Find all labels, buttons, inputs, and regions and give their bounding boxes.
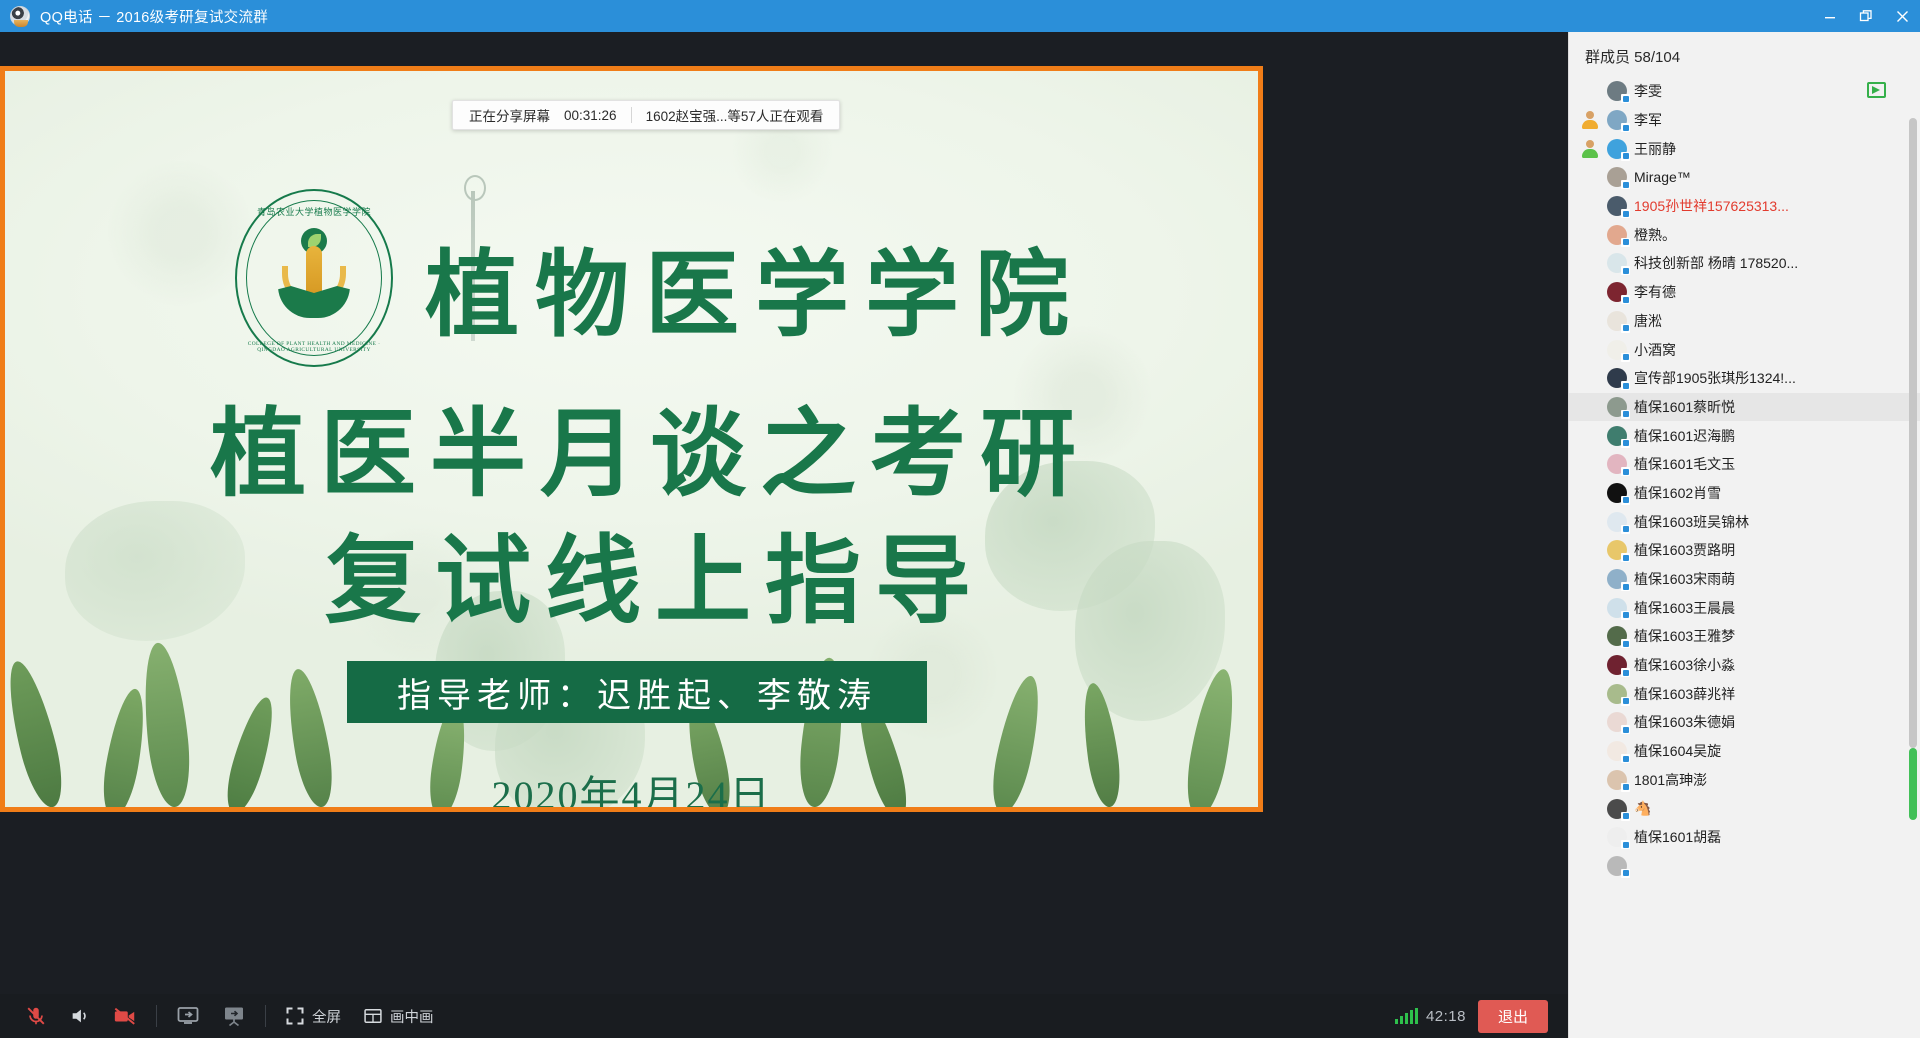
member-avatar — [1607, 770, 1627, 790]
member-name: 植保1601胡磊 — [1634, 827, 1721, 847]
member-avatar — [1607, 626, 1627, 646]
member-row[interactable]: 李军 — [1569, 106, 1920, 135]
picture-in-picture-icon — [363, 1006, 383, 1026]
member-avatar — [1607, 340, 1627, 360]
call-timer: 42:18 — [1426, 1008, 1466, 1025]
member-avatar — [1607, 225, 1627, 245]
close-button[interactable] — [1884, 0, 1920, 32]
member-row[interactable]: 科技创新部 杨晴 178520... — [1569, 249, 1920, 278]
minimize-button[interactable] — [1812, 0, 1848, 32]
share-screen-button[interactable] — [165, 999, 211, 1033]
member-avatar — [1607, 311, 1627, 331]
member-row[interactable]: 小酒窝 — [1569, 335, 1920, 364]
member-avatar — [1607, 81, 1627, 101]
member-row[interactable] — [1569, 852, 1920, 881]
screen-share-status-bar: 正在分享屏幕 00:31:26 1602赵宝强...等57人正在观看 — [452, 100, 840, 130]
restore-button[interactable] — [1848, 0, 1884, 32]
member-row[interactable]: Mirage™ — [1569, 163, 1920, 192]
fullscreen-icon — [285, 1006, 305, 1026]
member-row[interactable]: 植保1603王晨晨 — [1569, 593, 1920, 622]
members-scrollbar[interactable] — [1909, 118, 1917, 1038]
members-header: 群成员 58/104 — [1569, 32, 1920, 77]
shared-screen-frame[interactable]: 青岛农业大学植物医学学院 COLLEGE OF PLANT HEALTH AND… — [0, 66, 1263, 812]
slide-date: 2020年4月24日 — [5, 763, 1258, 807]
member-row[interactable]: 植保1604吴旋 — [1569, 737, 1920, 766]
member-avatar — [1607, 368, 1627, 388]
member-row[interactable]: 植保1603贾路明 — [1569, 536, 1920, 565]
member-row[interactable]: 宣传部1905张琪彤1324!... — [1569, 364, 1920, 393]
share-screen-icon — [176, 1004, 200, 1028]
member-row[interactable]: 植保1603朱德娟 — [1569, 708, 1920, 737]
member-name: 植保1603朱德娟 — [1634, 712, 1735, 732]
speaker-icon — [69, 1005, 91, 1027]
members-list[interactable]: 李雯李军王丽静Mirage™1905孙世祥157625313...橙熟。科技创新… — [1569, 77, 1920, 880]
member-row[interactable]: 植保1603宋雨萌 — [1569, 565, 1920, 594]
member-name: 植保1603薛兆祥 — [1634, 684, 1735, 704]
viewers-label: 1602赵宝强...等57人正在观看 — [646, 105, 824, 125]
fullscreen-button[interactable]: 全屏 — [274, 999, 352, 1033]
member-name: 植保1604吴旋 — [1634, 741, 1721, 761]
member-avatar — [1607, 282, 1627, 302]
presentation-board-icon — [222, 1004, 246, 1028]
member-row[interactable]: 1905孙世祥157625313... — [1569, 192, 1920, 221]
member-row[interactable]: 王丽静 — [1569, 134, 1920, 163]
member-name: 科技创新部 杨晴 178520... — [1634, 253, 1798, 273]
window-title-bar: QQ电话 － 2016级考研复试交流群 — [0, 0, 1920, 32]
divider — [265, 1005, 266, 1027]
member-avatar — [1607, 454, 1627, 474]
member-avatar — [1607, 512, 1627, 532]
member-row[interactable]: 植保1603薛兆祥 — [1569, 679, 1920, 708]
window-controls — [1812, 0, 1920, 32]
member-row[interactable]: 1801高珅澎 — [1569, 766, 1920, 795]
member-row[interactable]: 李雯 — [1569, 77, 1920, 106]
college-seal-logo: 青岛农业大学植物医学学院 COLLEGE OF PLANT HEALTH AND… — [235, 189, 393, 367]
member-avatar — [1607, 856, 1627, 876]
member-name: 宣传部1905张琪彤1324!... — [1634, 368, 1796, 388]
member-name: 唐淞 — [1634, 311, 1662, 331]
member-avatar — [1607, 799, 1627, 819]
divider — [631, 107, 632, 123]
network-signal-icon — [1395, 1008, 1418, 1024]
scrollbar-thumb-active[interactable] — [1909, 748, 1917, 820]
member-row[interactable]: 李有德 — [1569, 278, 1920, 307]
call-toolbar: 全屏 画中画 42:18 退出 — [0, 994, 1568, 1038]
microphone-muted-button[interactable] — [14, 999, 58, 1033]
slide-heading-main: 植医半月谈之考研 — [210, 376, 1090, 515]
member-name: 1905孙世祥157625313... — [1634, 196, 1789, 216]
member-role-icon — [1579, 138, 1601, 160]
member-avatar — [1607, 827, 1627, 847]
member-avatar — [1607, 598, 1627, 618]
microphone-muted-icon — [25, 1005, 47, 1027]
video-stage: 青岛农业大学植物医学学院 COLLEGE OF PLANT HEALTH AND… — [0, 32, 1568, 1038]
member-name: 李雯 — [1634, 81, 1662, 101]
member-row[interactable]: 植保1601胡磊 — [1569, 823, 1920, 852]
member-avatar — [1607, 253, 1627, 273]
member-row[interactable]: 橙熟。 — [1569, 220, 1920, 249]
member-name: 李军 — [1634, 110, 1662, 130]
whiteboard-button[interactable] — [211, 999, 257, 1033]
seal-bottom-text: COLLEGE OF PLANT HEALTH AND MEDICINE · Q… — [237, 341, 391, 353]
qq-logo-icon — [10, 6, 30, 26]
member-name: 小酒窝 — [1634, 340, 1676, 360]
member-row[interactable]: 植保1603王雅梦 — [1569, 622, 1920, 651]
member-avatar — [1607, 196, 1627, 216]
member-row[interactable]: 植保1601毛文玉 — [1569, 450, 1920, 479]
member-avatar — [1607, 684, 1627, 704]
member-row[interactable]: 唐淞 — [1569, 307, 1920, 336]
member-name: 🐴 — [1634, 800, 1651, 817]
fullscreen-label: 全屏 — [312, 1006, 341, 1027]
member-avatar — [1607, 426, 1627, 446]
member-avatar — [1607, 540, 1627, 560]
scrollbar-thumb[interactable] — [1909, 118, 1917, 748]
instructors-banner: 指导老师：迟胜起、李敬涛 — [347, 661, 927, 723]
member-avatar — [1607, 741, 1627, 761]
seal-top-text: 青岛农业大学植物医学学院 — [237, 205, 391, 218]
slide-heading-sub: 复试线上指导 — [325, 503, 985, 642]
group-members-panel: 群成员 58/104 李雯李军王丽静Mirage™1905孙世祥15762531… — [1568, 32, 1920, 1038]
picture-in-picture-button[interactable]: 画中画 — [352, 999, 445, 1033]
member-avatar — [1607, 167, 1627, 187]
leaf-blob-icon — [65, 501, 245, 641]
member-avatar — [1607, 483, 1627, 503]
member-name: 橙熟。 — [1634, 225, 1676, 245]
instructors-text: 指导老师：迟胜起、李敬涛 — [397, 668, 877, 717]
member-name: 植保1603贾路明 — [1634, 540, 1735, 560]
member-avatar — [1607, 712, 1627, 732]
window-title: QQ电话 － 2016级考研复试交流群 — [40, 6, 268, 27]
share-elapsed-time: 00:31:26 — [564, 108, 617, 123]
member-name: Mirage™ — [1634, 169, 1691, 185]
member-role-icon — [1579, 109, 1601, 131]
seal-emblem-icon — [272, 230, 356, 326]
member-row[interactable]: 植保1601迟海鹏 — [1569, 421, 1920, 450]
member-avatar — [1607, 110, 1627, 130]
member-avatar — [1607, 655, 1627, 675]
member-name: 1801高珅澎 — [1634, 770, 1707, 790]
divider — [156, 1005, 157, 1027]
sharing-label: 正在分享屏幕 — [469, 105, 550, 125]
member-avatar — [1607, 139, 1627, 159]
presentation-slide: 青岛农业大学植物医学学院 COLLEGE OF PLANT HEALTH AND… — [5, 71, 1258, 807]
member-name: 王丽静 — [1634, 139, 1676, 159]
member-name: 植保1603王雅梦 — [1634, 626, 1735, 646]
camera-off-icon — [113, 1004, 137, 1028]
member-avatar — [1607, 569, 1627, 589]
camera-off-button[interactable] — [102, 999, 148, 1033]
member-name: 植保1602肖雪 — [1634, 483, 1721, 503]
member-name: 植保1601毛文玉 — [1634, 454, 1735, 474]
member-name: 植保1603徐小淼 — [1634, 655, 1735, 675]
member-name: 植保1603宋雨萌 — [1634, 569, 1735, 589]
member-name: 植保1603班吴锦林 — [1634, 512, 1749, 532]
member-name: 植保1601迟海鹏 — [1634, 426, 1735, 446]
member-avatar — [1607, 397, 1627, 417]
member-sharing-screen-icon — [1867, 82, 1886, 98]
member-row[interactable]: 🐴 — [1569, 794, 1920, 823]
member-name: 植保1603王晨晨 — [1634, 598, 1735, 618]
pip-label: 画中画 — [390, 1006, 434, 1027]
member-row[interactable]: 植保1601蔡昕悦 — [1569, 393, 1920, 422]
exit-call-button[interactable]: 退出 — [1478, 1000, 1548, 1033]
member-name: 李有德 — [1634, 282, 1676, 302]
member-name: 植保1601蔡昕悦 — [1634, 397, 1735, 417]
member-row[interactable]: 植保1603徐小淼 — [1569, 651, 1920, 680]
slide-heading-college: 植物医学学院 — [425, 219, 1085, 355]
speaker-button[interactable] — [58, 999, 102, 1033]
member-row[interactable]: 植保1602肖雪 — [1569, 479, 1920, 508]
member-row[interactable]: 植保1603班吴锦林 — [1569, 507, 1920, 536]
